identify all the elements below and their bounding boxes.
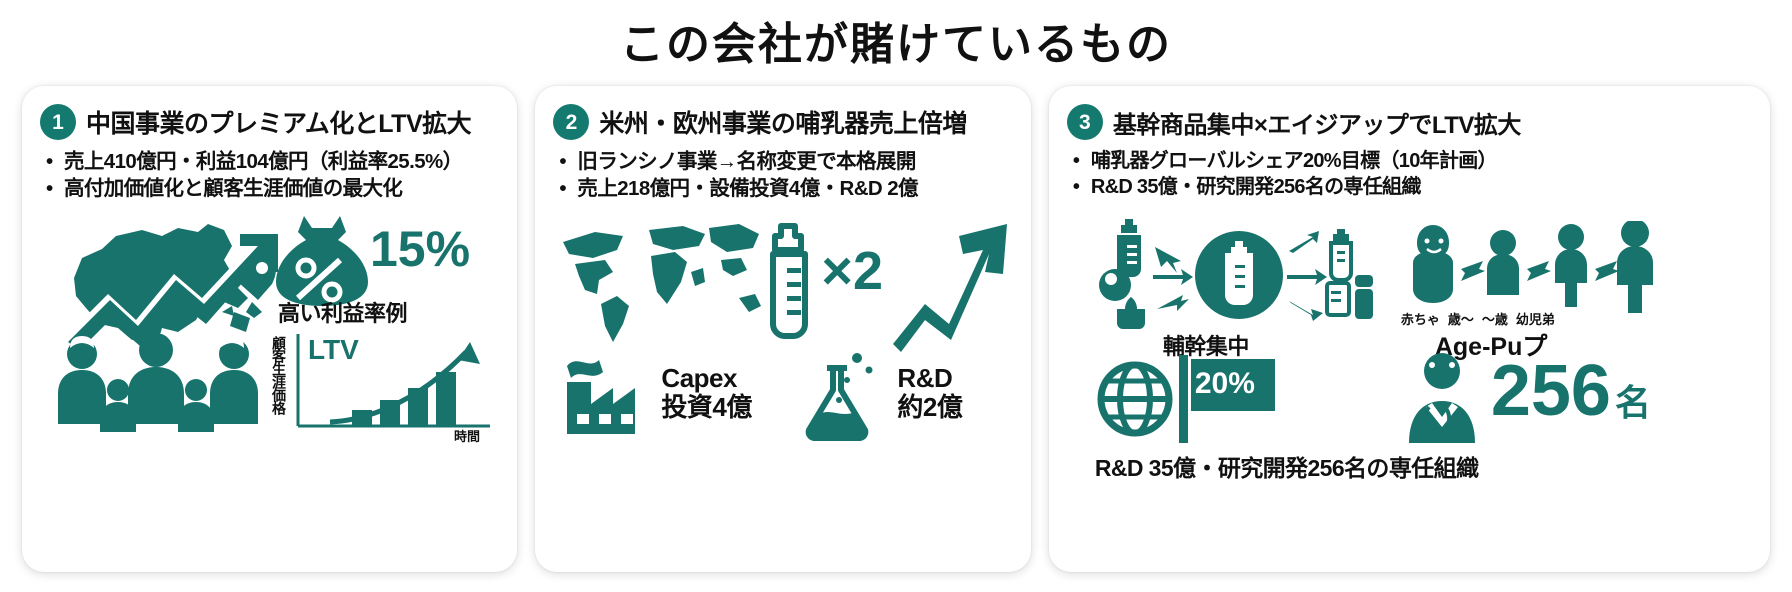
- card-3-bullet-0: 哺乳器グローバルシェア20%目標（10年計画）: [1071, 148, 1752, 174]
- age-stage-label-0: 赤ちゃ: [1401, 309, 1440, 328]
- card-1-bullet-1: 高付加価値化と顧客生涯価値の最大化: [44, 175, 499, 202]
- card-1-bullet-0: 売上410億円・利益104億円（利益率25.5%）: [44, 148, 499, 175]
- card-1-number-badge: 1: [40, 104, 76, 140]
- factory-icon: [561, 356, 657, 440]
- card-2-artwork: ×2 Capex 投資4億: [553, 206, 1012, 562]
- product-consolidation-hub-icon: [1091, 213, 1373, 331]
- age-stage-label-2: 〜歳: [1482, 309, 1508, 328]
- card-2-bullet-1: 売上218億円・設備投資4億・R&D 2億: [557, 175, 1012, 202]
- card-1-artwork: 15% 高い利益率例 顧客生涯価格 LTV: [40, 206, 499, 562]
- capex-label-line2: 投資4億: [661, 393, 751, 422]
- researcher-icon: [1397, 351, 1487, 443]
- age-stage-labels: 赤ちゃ 歳〜 〜歳 幼児弟: [1401, 309, 1661, 328]
- page-title: この会社が賭けているもの: [0, 0, 1792, 86]
- age-stage-label-1: 歳〜: [1448, 309, 1474, 328]
- globe-icon: [1097, 359, 1173, 439]
- staff-count-unit: 名: [1615, 374, 1651, 426]
- card-3-artwork: 輔幹集中: [1067, 205, 1752, 562]
- card-1-bullets: 売上410億円・利益104億円（利益率25.5%） 高付加価値化と顧客生涯価値の…: [44, 148, 499, 202]
- growth-arrow-icon: [891, 216, 1011, 352]
- capex-label: Capex 投資4億: [661, 364, 751, 422]
- ltv-chart: 顧客生涯価格 LTV 時間: [272, 334, 498, 438]
- card-core-products-ageup[interactable]: 3 基幹商品集中×エイジアップでLTV拡大 哺乳器グローバルシェア20%目標（1…: [1049, 86, 1770, 572]
- staff-count: 256 名: [1491, 355, 1651, 427]
- staff-count-number: 256: [1491, 355, 1611, 427]
- money-bag-percent-icon: [276, 212, 368, 308]
- lab-flask-icon: [799, 350, 891, 442]
- card-2-bullets: 旧ランシノ事業→名称変更で本格展開 売上218億円・設備投資4億・R&D 2億: [557, 148, 1012, 202]
- card-3-header: 3 基幹商品集中×エイジアップでLTV拡大: [1067, 104, 1752, 140]
- world-map-icon: [553, 220, 769, 350]
- profit-rate-value: 15%: [370, 224, 470, 274]
- rd-label-line1: R&D: [897, 364, 962, 393]
- profit-rate-caption: 高い利益率例: [278, 296, 407, 328]
- card-3-bullet-1: R&D 35億・研究開発256名の専任組織: [1071, 174, 1752, 200]
- card-2-header: 2 米州・欧州事業の哺乳器売上倍増: [553, 104, 1012, 140]
- rd-label-line2: 約2億: [897, 393, 962, 422]
- card-2-title: 米州・欧州事業の哺乳器売上倍増: [599, 104, 967, 140]
- card-3-number-badge: 3: [1067, 104, 1103, 140]
- card-1-header: 1 中国事業のプレミアム化とLTV拡大: [40, 104, 499, 140]
- cards-container: 1 中国事業のプレミアム化とLTV拡大 売上410億円・利益104億円（利益率2…: [0, 86, 1792, 572]
- ltv-chart-y-label: 顧客生涯価格: [272, 336, 286, 414]
- card-2-bullet-0: 旧ランシノ事業→名称変更で本格展開: [557, 148, 1012, 175]
- ltv-chart-graphic: [294, 334, 494, 438]
- card-1-title: 中国事業のプレミアム化とLTV拡大: [86, 104, 471, 140]
- age-stage-label-3: 幼児弟: [1516, 309, 1555, 328]
- ltv-chart-x-label: 時間: [454, 426, 480, 445]
- card-china-premiumization[interactable]: 1 中国事業のプレミアム化とLTV拡大 売上410億円・利益104億円（利益率2…: [22, 86, 517, 572]
- card-2-number-badge: 2: [553, 104, 589, 140]
- rd-label: R&D 約2億: [897, 364, 962, 422]
- customer-group-icon: [48, 334, 288, 438]
- card-3-bullets: 哺乳器グローバルシェア20%目標（10年計画） R&D 35億・研究開発256名…: [1071, 148, 1752, 201]
- global-share-value: 20%: [1195, 367, 1255, 401]
- card-3-footer-caption: R&D 35億・研究開発256名の専任組織: [1095, 449, 1479, 483]
- doubling-multiplier: ×2: [821, 240, 883, 302]
- card-3-title: 基幹商品集中×エイジアップでLTV拡大: [1113, 105, 1521, 140]
- capex-label-line1: Capex: [661, 364, 751, 393]
- card-americas-europe-bottles[interactable]: 2 米州・欧州事業の哺乳器売上倍増 旧ランシノ事業→名称変更で本格展開 売上21…: [535, 86, 1030, 572]
- baby-bottle-icon: [765, 222, 821, 346]
